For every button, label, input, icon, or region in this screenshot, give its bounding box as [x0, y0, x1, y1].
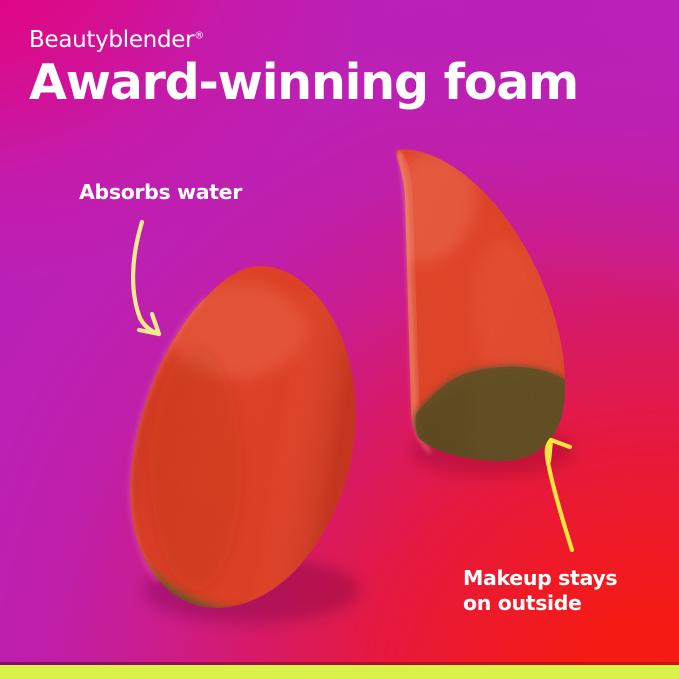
callout-makeup-stays: Makeup stays on outside — [463, 566, 617, 616]
marketing-image-canvas: Beautyblender® Award-winning foam Absorb… — [0, 0, 679, 679]
page-title: Award-winning foam — [29, 57, 578, 108]
callout-makeup-stays-line1: Makeup stays — [463, 566, 617, 591]
brand-logo: Beautyblender® — [29, 29, 204, 52]
callout-absorbs-water: Absorbs water — [79, 180, 242, 205]
brand-name: Beautyblender — [29, 27, 194, 53]
callout-makeup-stays-line2: on outside — [463, 591, 617, 616]
arrow-absorbs-water — [133, 222, 159, 334]
callout-absorbs-water-line1: Absorbs water — [79, 180, 242, 205]
registered-trademark-icon: ® — [194, 30, 204, 41]
bottom-accent-strip — [0, 665, 679, 679]
